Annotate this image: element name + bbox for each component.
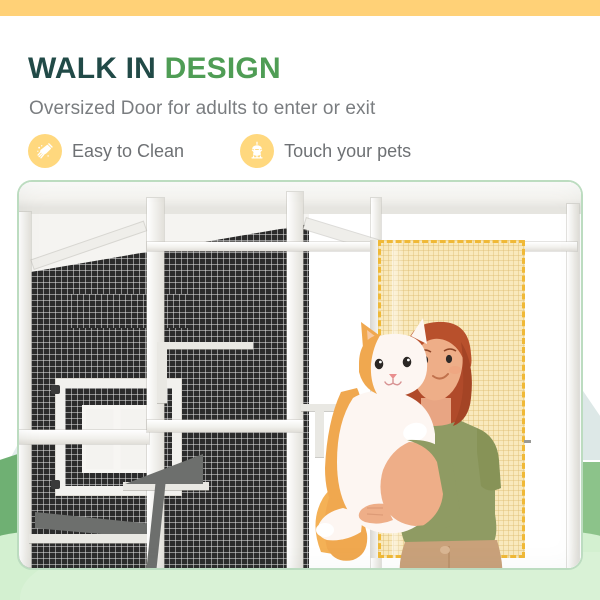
- tshirt-sleeve: [477, 428, 501, 491]
- product-photo-frame: [17, 180, 583, 570]
- feature-item-touch-your-pets: Touch your pets: [240, 134, 411, 168]
- top-accent-bar: [0, 0, 600, 16]
- illustration-woman-holding-cat: [349, 302, 581, 568]
- window-hinge-bottom: [51, 480, 60, 489]
- pants: [400, 540, 503, 568]
- feature-item-easy-to-clean: Easy to Clean: [28, 134, 184, 168]
- cat-shelf-upper: [157, 342, 253, 349]
- feature-label: Touch your pets: [284, 141, 411, 162]
- cat-eye-left: [375, 359, 384, 369]
- cat-eye-highlight-left: [379, 361, 382, 364]
- feature-label: Easy to Clean: [72, 141, 184, 162]
- cat-head: [359, 318, 427, 396]
- cat-paw-front: [316, 523, 334, 537]
- enclosure-beam-mid: [147, 420, 303, 432]
- cheek: [449, 366, 461, 374]
- cat-shelf-right-support: [315, 411, 324, 457]
- cat-eye-highlight-right: [407, 359, 410, 362]
- page-subtitle: Oversized Door for adults to enter or ex…: [29, 98, 375, 120]
- eye-right: [446, 355, 452, 363]
- product-photo: [19, 182, 581, 568]
- page-title-part-two: DESIGN: [165, 52, 281, 85]
- enclosure-beam-left-mid: [19, 430, 149, 444]
- cat-platform-edge: [29, 534, 147, 543]
- window-hinge-top: [51, 385, 60, 394]
- cat-eye-right: [403, 357, 412, 367]
- cat-shelf-upper-support: [157, 349, 167, 403]
- feature-list: Easy to Clean Touch your pets: [28, 134, 411, 168]
- enclosure-post-far-left: [19, 212, 31, 568]
- page-title-part-one: WALK IN: [28, 52, 165, 85]
- page-title: WALK IN DESIGN: [28, 52, 281, 86]
- pants-detail: [440, 546, 450, 554]
- hand-petting-cat-icon: [240, 134, 274, 168]
- enclosure-upper-vent-panel: [71, 294, 191, 328]
- broom-sparkle-icon: [28, 134, 62, 168]
